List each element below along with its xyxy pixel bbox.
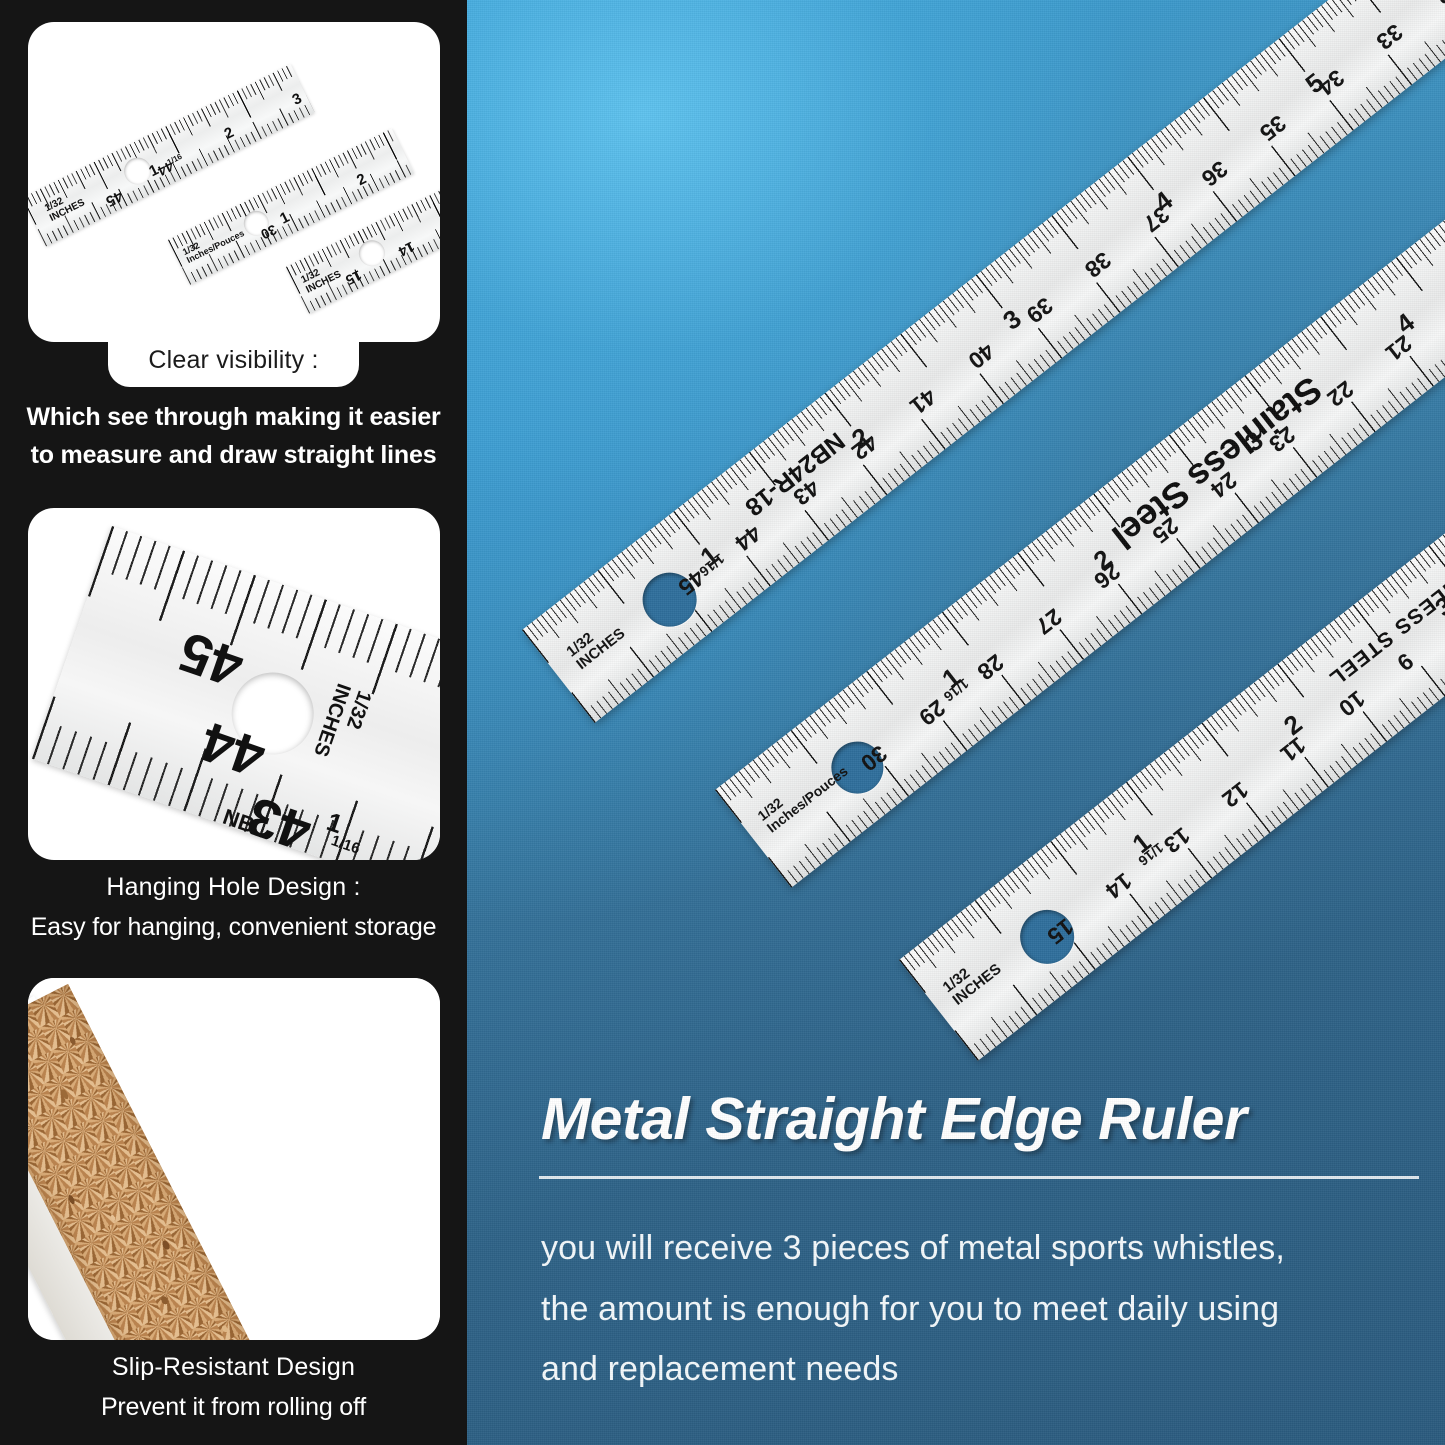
left-feature-column: 1/32 INCHES 45 44 1 2 3 1/16 1/32 Inches… [0, 0, 467, 1445]
caption-title: Clear visibility : [108, 338, 358, 387]
product-description: you will receive 3 pieces of metal sport… [541, 1218, 1431, 1400]
caption-title: Slip-Resistant Design [0, 1352, 467, 1383]
inch-3: 3 [998, 305, 1025, 334]
ruler-end-macro: 45 44 43 1/32 INCHES 1 1/16 NB [32, 526, 440, 860]
caption-clear-visibility: Clear visibility : Which see through mak… [0, 340, 467, 474]
caption-slip-resistant: Slip-Resistant Design Prevent it from ro… [0, 1352, 467, 1427]
right-hero-panel: 1/32 INCHES NB24R-18 1/16 45 44 43 42 41… [467, 0, 1445, 1445]
inch-2: 2 [1279, 710, 1306, 739]
cm-32: 32 [1431, 0, 1445, 8]
caption-line-1: Which see through making it easier [0, 399, 467, 437]
caption-hanging-hole: Hanging Hole Design : Easy for hanging, … [0, 872, 467, 947]
cm-9: 9 [1393, 649, 1417, 675]
feature-image-hanging-hole: 45 44 43 1/32 INCHES 1 1/16 NB [28, 508, 440, 860]
page-title: Metal Straight Edge Ruler [541, 1085, 1421, 1153]
feature-image-slip-resistant [28, 978, 440, 1340]
product-infographic: 1/32 INCHES 45 44 1 2 3 1/16 1/32 Inches… [0, 0, 1445, 1445]
caption-line-1: Easy for hanging, convenient storage [0, 909, 467, 947]
inch-1: 1 [1128, 828, 1155, 857]
description-line-1: you will receive 3 pieces of metal sport… [541, 1218, 1431, 1279]
caption-line-1: Prevent it from rolling off [0, 1389, 467, 1427]
end-label: 1/32 INCHES [309, 681, 375, 767]
caption-title: Hanging Hole Design : [0, 872, 467, 903]
caption-line-2: to measure and draw straight lines [0, 437, 467, 475]
cm-20: 20 [1440, 285, 1445, 319]
inch-1: 1 [938, 663, 965, 692]
description-line-2: the amount is enough for you to meet dai… [541, 1279, 1431, 1340]
description-line-3: and replacement needs [541, 1339, 1431, 1400]
feature-image-clear-visibility: 1/32 INCHES 45 44 1 2 3 1/16 1/32 Inches… [28, 22, 440, 342]
divider [539, 1176, 1419, 1179]
